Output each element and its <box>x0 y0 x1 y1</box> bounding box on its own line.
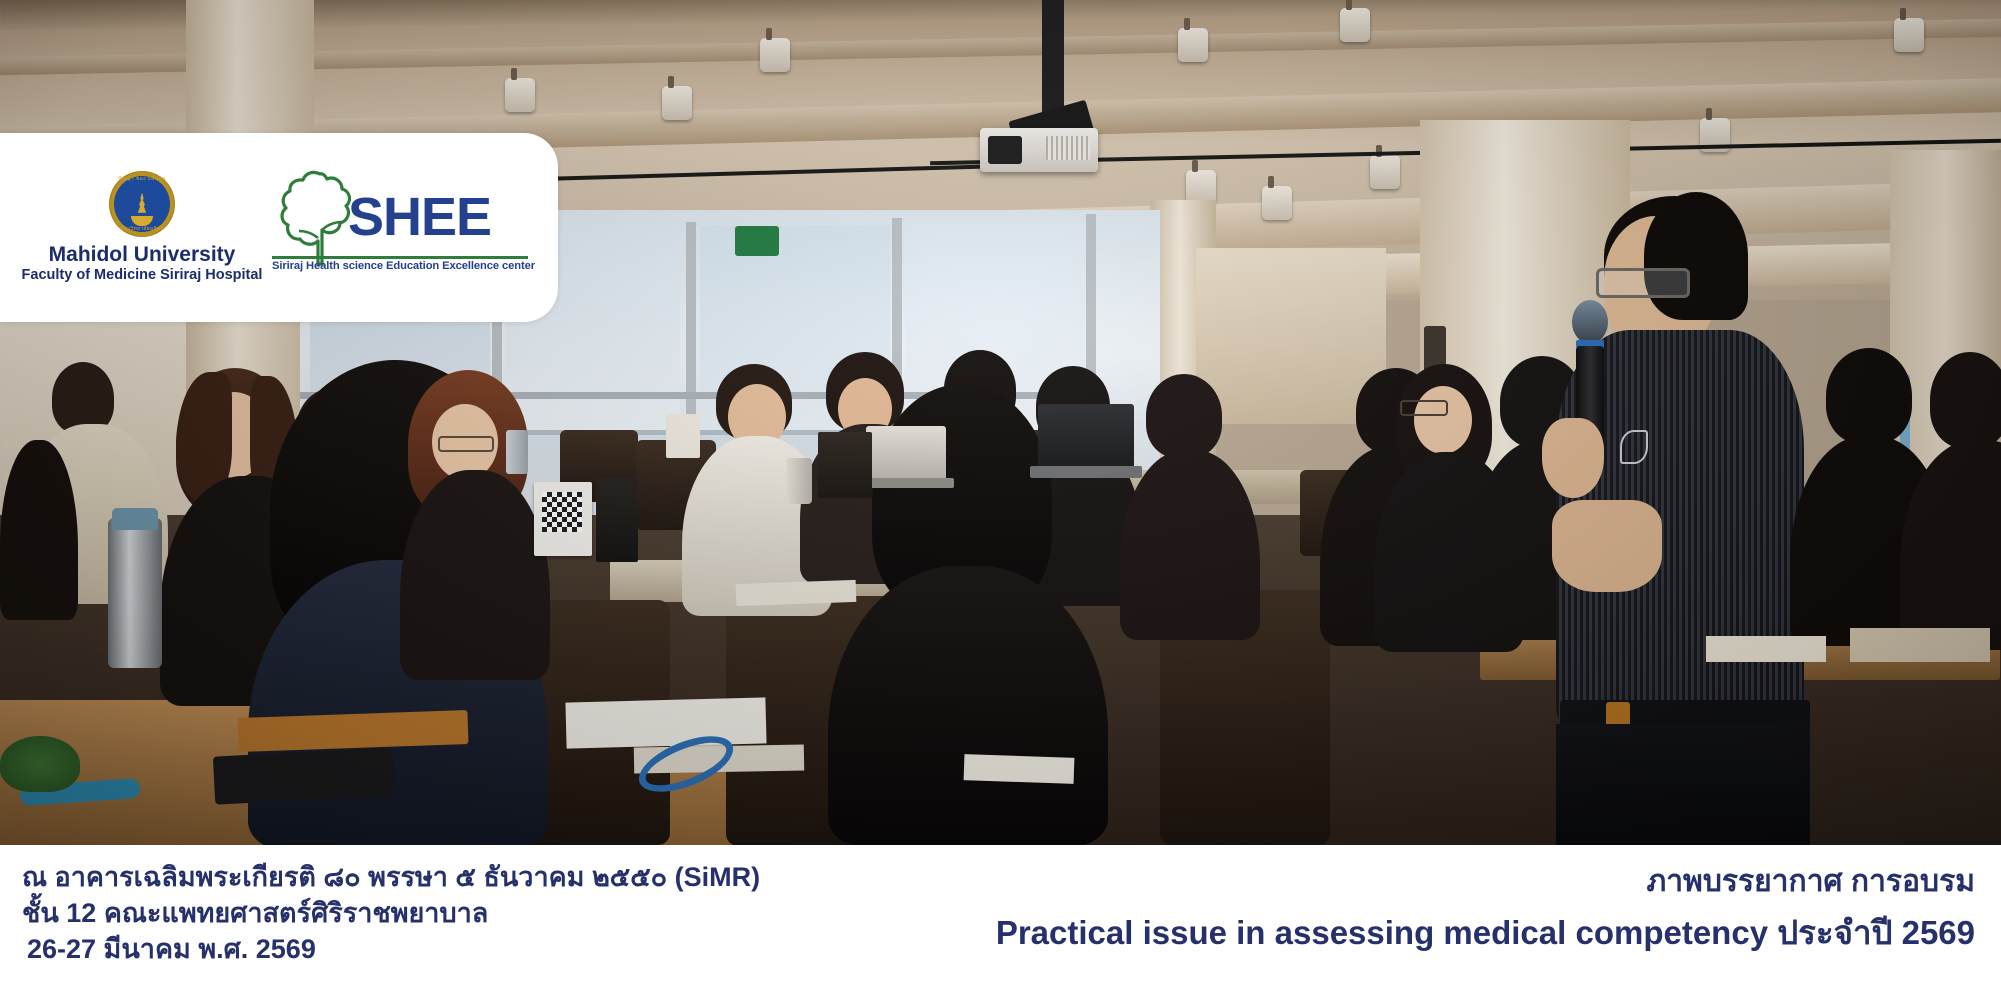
shirt-logo-icon <box>1620 430 1648 464</box>
venue-line-1: ณ อาคารเฉลิมพระเกียรติ ๘๐ พรรษา ๕ ธันวาค… <box>22 859 760 895</box>
speaker-hand <box>1542 418 1604 498</box>
caption-bar: ณ อาคารเฉลิมพระเกียรติ ๘๐ พรรษา ๕ ธันวาค… <box>0 845 2001 998</box>
track-light-icon <box>1370 155 1400 189</box>
mahidol-crest-icon: ปัญญา ของ แผ่นดิน มหาวิทยาลัยมหิดล <box>109 171 175 237</box>
laptop-base <box>858 478 954 488</box>
drink-cup <box>786 458 812 504</box>
person-hair <box>1930 352 2001 448</box>
table-card <box>666 414 700 458</box>
logo-panel: ปัญญา ของ แผ่นดิน มหาวิทยาลัยมหิดล Mahid… <box>0 133 558 322</box>
mahidol-logo: ปัญญา ของ แผ่นดิน มหาวิทยาลัยมหิดล Mahid… <box>28 171 256 284</box>
bottle-cap <box>112 508 158 530</box>
speaker-hair <box>1644 192 1748 320</box>
qr-code-icon <box>542 492 582 532</box>
track-light-icon <box>662 86 692 120</box>
shee-tagline: Siriraj Health science Education Excelle… <box>272 260 534 272</box>
eyeglasses-icon <box>1400 400 1448 416</box>
plant-decoration <box>0 736 80 792</box>
table-tent-card <box>596 478 638 562</box>
paper-sheet <box>964 754 1075 784</box>
event-photo <box>0 0 2001 845</box>
venue-caption: ณ อาคารเฉลิมพระเกียรติ ๘๐ พรรษา ๕ ธันวาค… <box>22 859 760 968</box>
table-tent-card <box>818 432 872 498</box>
mahidol-university-name: Mahidol University <box>49 244 236 266</box>
event-title: Practical issue in assessing medical com… <box>996 909 1975 957</box>
drink-cup <box>506 430 528 474</box>
track-light-icon <box>1178 28 1208 62</box>
laptop-screen <box>866 426 946 480</box>
microphone-head-icon <box>1572 300 1608 344</box>
paper-sheet <box>736 580 857 606</box>
event-title-caption: ภาพบรรยากาศ การอบรม Practical issue in a… <box>996 861 1975 957</box>
track-light-icon <box>760 38 790 72</box>
mahidol-faculty-name: Faculty of Medicine Siriraj Hospital <box>22 268 263 283</box>
laptop-screen <box>1038 404 1134 468</box>
track-light-icon <box>1340 8 1370 42</box>
shee-wordmark: SHEE <box>348 190 491 244</box>
track-light-icon <box>1262 186 1292 220</box>
speaker-trousers <box>1556 724 1810 845</box>
projector-vent <box>1046 136 1090 160</box>
person-hair <box>1146 374 1222 458</box>
person-hair <box>1826 348 1912 444</box>
track-light-icon <box>505 78 535 112</box>
projector-lens <box>988 136 1022 164</box>
shee-underline <box>272 256 528 259</box>
shee-logo: SHEE Siriraj Health science Education Ex… <box>266 164 530 292</box>
event-subtitle: ภาพบรรยากาศ การอบรม <box>996 861 1975 903</box>
projector-mount-rod <box>1042 0 1064 118</box>
smartphone <box>213 747 395 804</box>
event-poster: ปัญญา ของ แผ่นดิน มหาวิทยาลัยมหิดล Mahid… <box>0 0 2001 998</box>
venue-line-2: ชั้น 12 คณะแพทยศาสตร์ศิริราชพยาบาล <box>22 895 760 931</box>
speaker-forearm <box>1552 500 1662 592</box>
track-light-icon <box>1186 170 1216 204</box>
event-date: 26-27 มีนาคม พ.ศ. 2569 <box>22 931 760 967</box>
laptop-base <box>1030 466 1142 478</box>
water-bottle <box>108 518 162 668</box>
crest-ring-text-bottom: มหาวิทยาลัยมหิดล <box>109 225 175 233</box>
eyeglasses-icon <box>438 436 494 452</box>
paper-stack <box>1850 628 1990 662</box>
crest-ring-text-top: ปัญญา ของ แผ่นดิน <box>109 175 175 183</box>
track-light-icon <box>1894 18 1924 52</box>
paper-sheet <box>565 697 766 748</box>
paper-sheet <box>1706 636 1826 662</box>
eyeglasses-icon <box>1596 268 1690 298</box>
exit-sign-icon <box>735 226 779 256</box>
person-face <box>1414 386 1472 454</box>
